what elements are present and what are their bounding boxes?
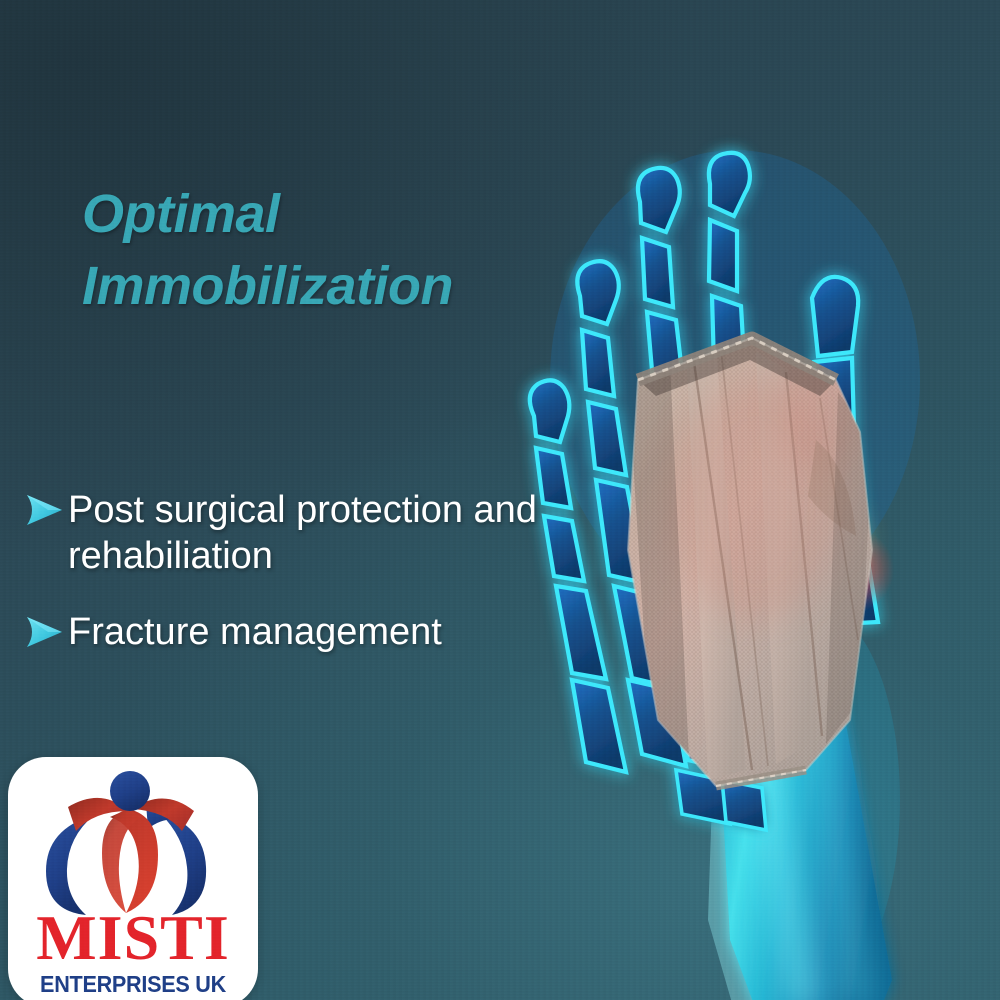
company-logo[interactable]: MISTI ENTERPRISES UK LTD. bbox=[8, 757, 258, 1000]
list-item-label: Post surgical protection and rehabiliati… bbox=[68, 487, 662, 579]
list-item: Fracture management bbox=[22, 609, 662, 655]
page-title: Optimal Immobilization bbox=[82, 178, 552, 322]
heat-accent-glow bbox=[802, 520, 894, 614]
headline-line-1: Optimal bbox=[82, 184, 280, 244]
logo-tagline: ENTERPRISES UK LTD. bbox=[16, 969, 251, 1000]
xray-forearm bbox=[708, 680, 892, 1000]
misti-people-logo-icon bbox=[34, 769, 232, 917]
list-item: Post surgical protection and rehabiliati… bbox=[22, 487, 662, 579]
list-item-label: Fracture management bbox=[68, 609, 662, 655]
headline-line-2: Immobilization bbox=[82, 256, 453, 316]
poster-canvas: Optimal Immobilization Post bbox=[0, 0, 1000, 1000]
feature-list: Post surgical protection and rehabiliati… bbox=[22, 487, 662, 655]
xray-thumb bbox=[812, 277, 878, 624]
arrow-bullet-icon bbox=[24, 615, 64, 649]
arrow-bullet-icon bbox=[24, 493, 64, 527]
logo-wordmark: MISTI ENTERPRISES UK LTD. bbox=[8, 907, 258, 1000]
logo-company-name: MISTI bbox=[8, 907, 258, 969]
